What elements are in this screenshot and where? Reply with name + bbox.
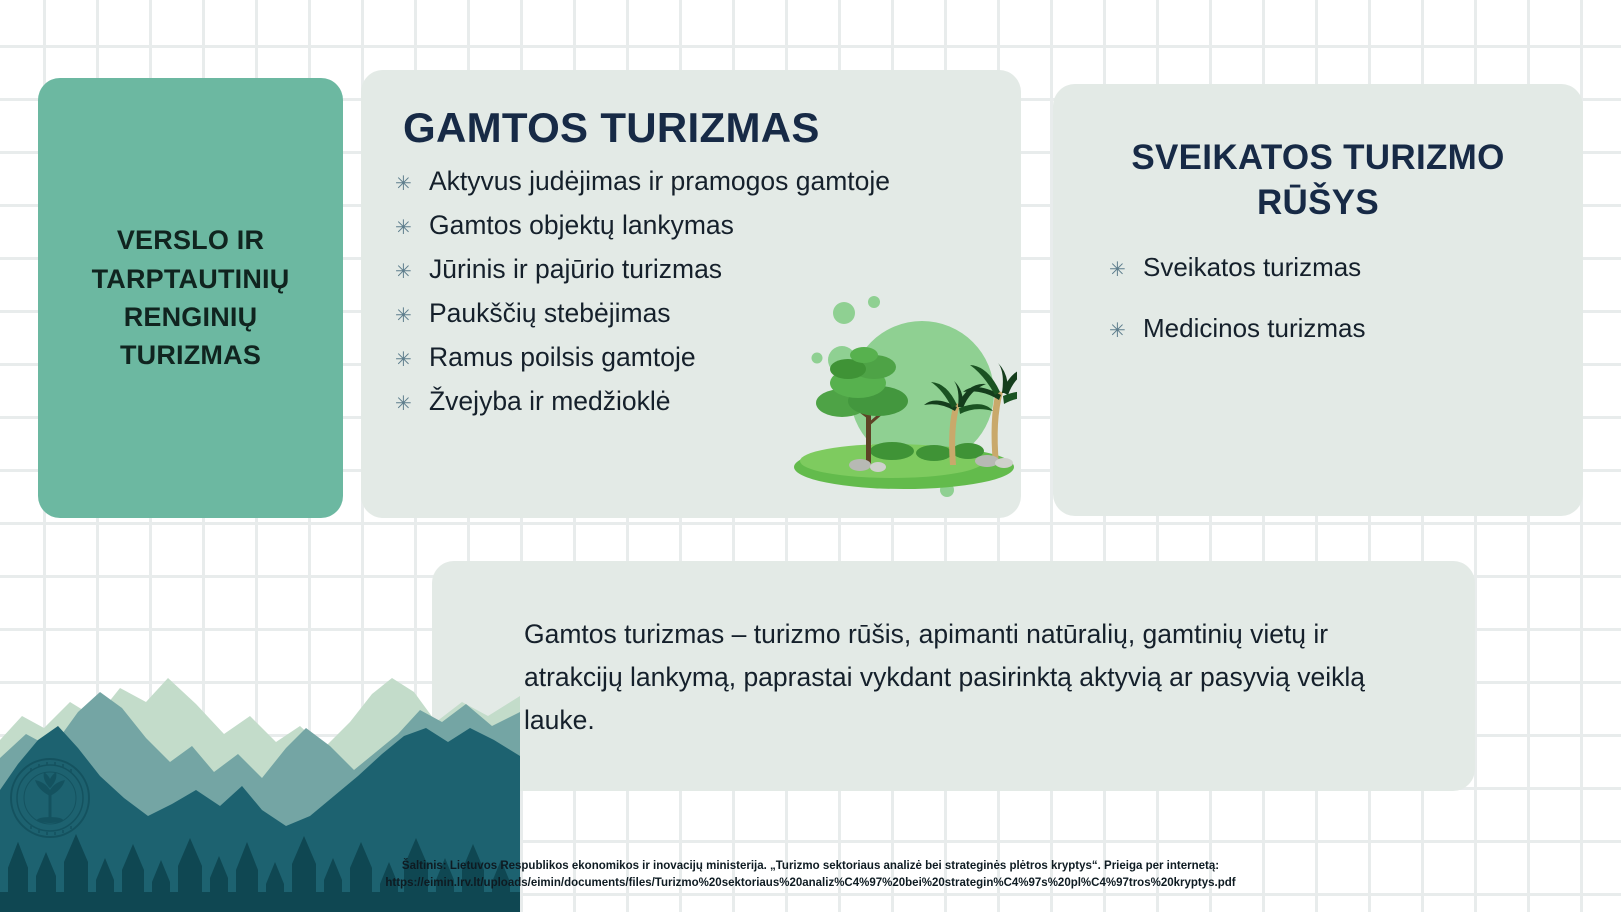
list-item: ✳ Paukščių stebėjimas	[395, 298, 1021, 329]
asterisk-bullet-icon: ✳	[1109, 321, 1143, 341]
asterisk-bullet-icon: ✳	[395, 174, 429, 194]
business-card-label: VERSLO IR TARPTAUTINIŲ RENGINIŲ TURIZMAS	[56, 221, 325, 374]
list-item: ✳ Gamtos objektų lankymas	[395, 210, 1021, 241]
list-item: ✳ Žvejyba ir medžioklė	[395, 386, 1021, 417]
health-card-title: SVEIKATOS TURIZMO RŪŠYS	[1081, 136, 1555, 226]
list-item-label: Ramus poilsis gamtoje	[429, 342, 1021, 373]
card-nature-tourism[interactable]: GAMTOS TURIZMAS ✳ Aktyvus judėjimas ir p…	[361, 70, 1021, 518]
list-item-label: Gamtos objektų lankymas	[429, 210, 1021, 241]
card-business-tourism[interactable]: VERSLO IR TARPTAUTINIŲ RENGINIŲ TURIZMAS	[38, 78, 343, 518]
list-item-label: Sveikatos turizmas	[1143, 252, 1555, 283]
list-item-label: Paukščių stebėjimas	[429, 298, 1021, 329]
list-item-label: Medicinos turizmas	[1143, 313, 1555, 344]
nature-card-title: GAMTOS TURIZMAS	[361, 104, 1021, 152]
card-definition[interactable]: Gamtos turizmas – turizmo rūšis, apimant…	[432, 561, 1475, 791]
asterisk-bullet-icon: ✳	[395, 262, 429, 282]
footnote-line-2: https://eimin.lrv.lt/uploads/eimin/docum…	[0, 875, 1621, 892]
list-item: ✳ Aktyvus judėjimas ir pramogos gamtoje	[395, 166, 1021, 197]
asterisk-bullet-icon: ✳	[1109, 260, 1143, 280]
list-item: ✳ Jūrinis ir pajūrio turizmas	[395, 254, 1021, 285]
asterisk-bullet-icon: ✳	[395, 306, 429, 326]
slide-canvas: VERSLO IR TARPTAUTINIŲ RENGINIŲ TURIZMAS…	[0, 0, 1621, 912]
health-bullet-list: ✳ Sveikatos turizmas ✳ Medicinos turizma…	[1081, 252, 1555, 344]
asterisk-bullet-icon: ✳	[395, 394, 429, 414]
asterisk-bullet-icon: ✳	[395, 350, 429, 370]
list-item-label: Jūrinis ir pajūrio turizmas	[429, 254, 1021, 285]
list-item: ✳ Ramus poilsis gamtoje	[395, 342, 1021, 373]
nature-bullet-list: ✳ Aktyvus judėjimas ir pramogos gamtoje …	[361, 166, 1021, 417]
definition-text: Gamtos turizmas – turizmo rūšis, apimant…	[524, 613, 1415, 742]
asterisk-bullet-icon: ✳	[395, 218, 429, 238]
list-item-label: Žvejyba ir medžioklė	[429, 386, 1021, 417]
list-item-label: Aktyvus judėjimas ir pramogos gamtoje	[429, 166, 1021, 197]
list-item: ✳ Medicinos turizmas	[1109, 313, 1555, 344]
source-footnote: Šaltinis: Lietuvos Respublikos ekonomiko…	[0, 858, 1621, 893]
footnote-line-1: Šaltinis: Lietuvos Respublikos ekonomiko…	[0, 858, 1621, 875]
list-item: ✳ Sveikatos turizmas	[1109, 252, 1555, 283]
card-health-tourism[interactable]: SVEIKATOS TURIZMO RŪŠYS ✳ Sveikatos turi…	[1053, 84, 1583, 516]
